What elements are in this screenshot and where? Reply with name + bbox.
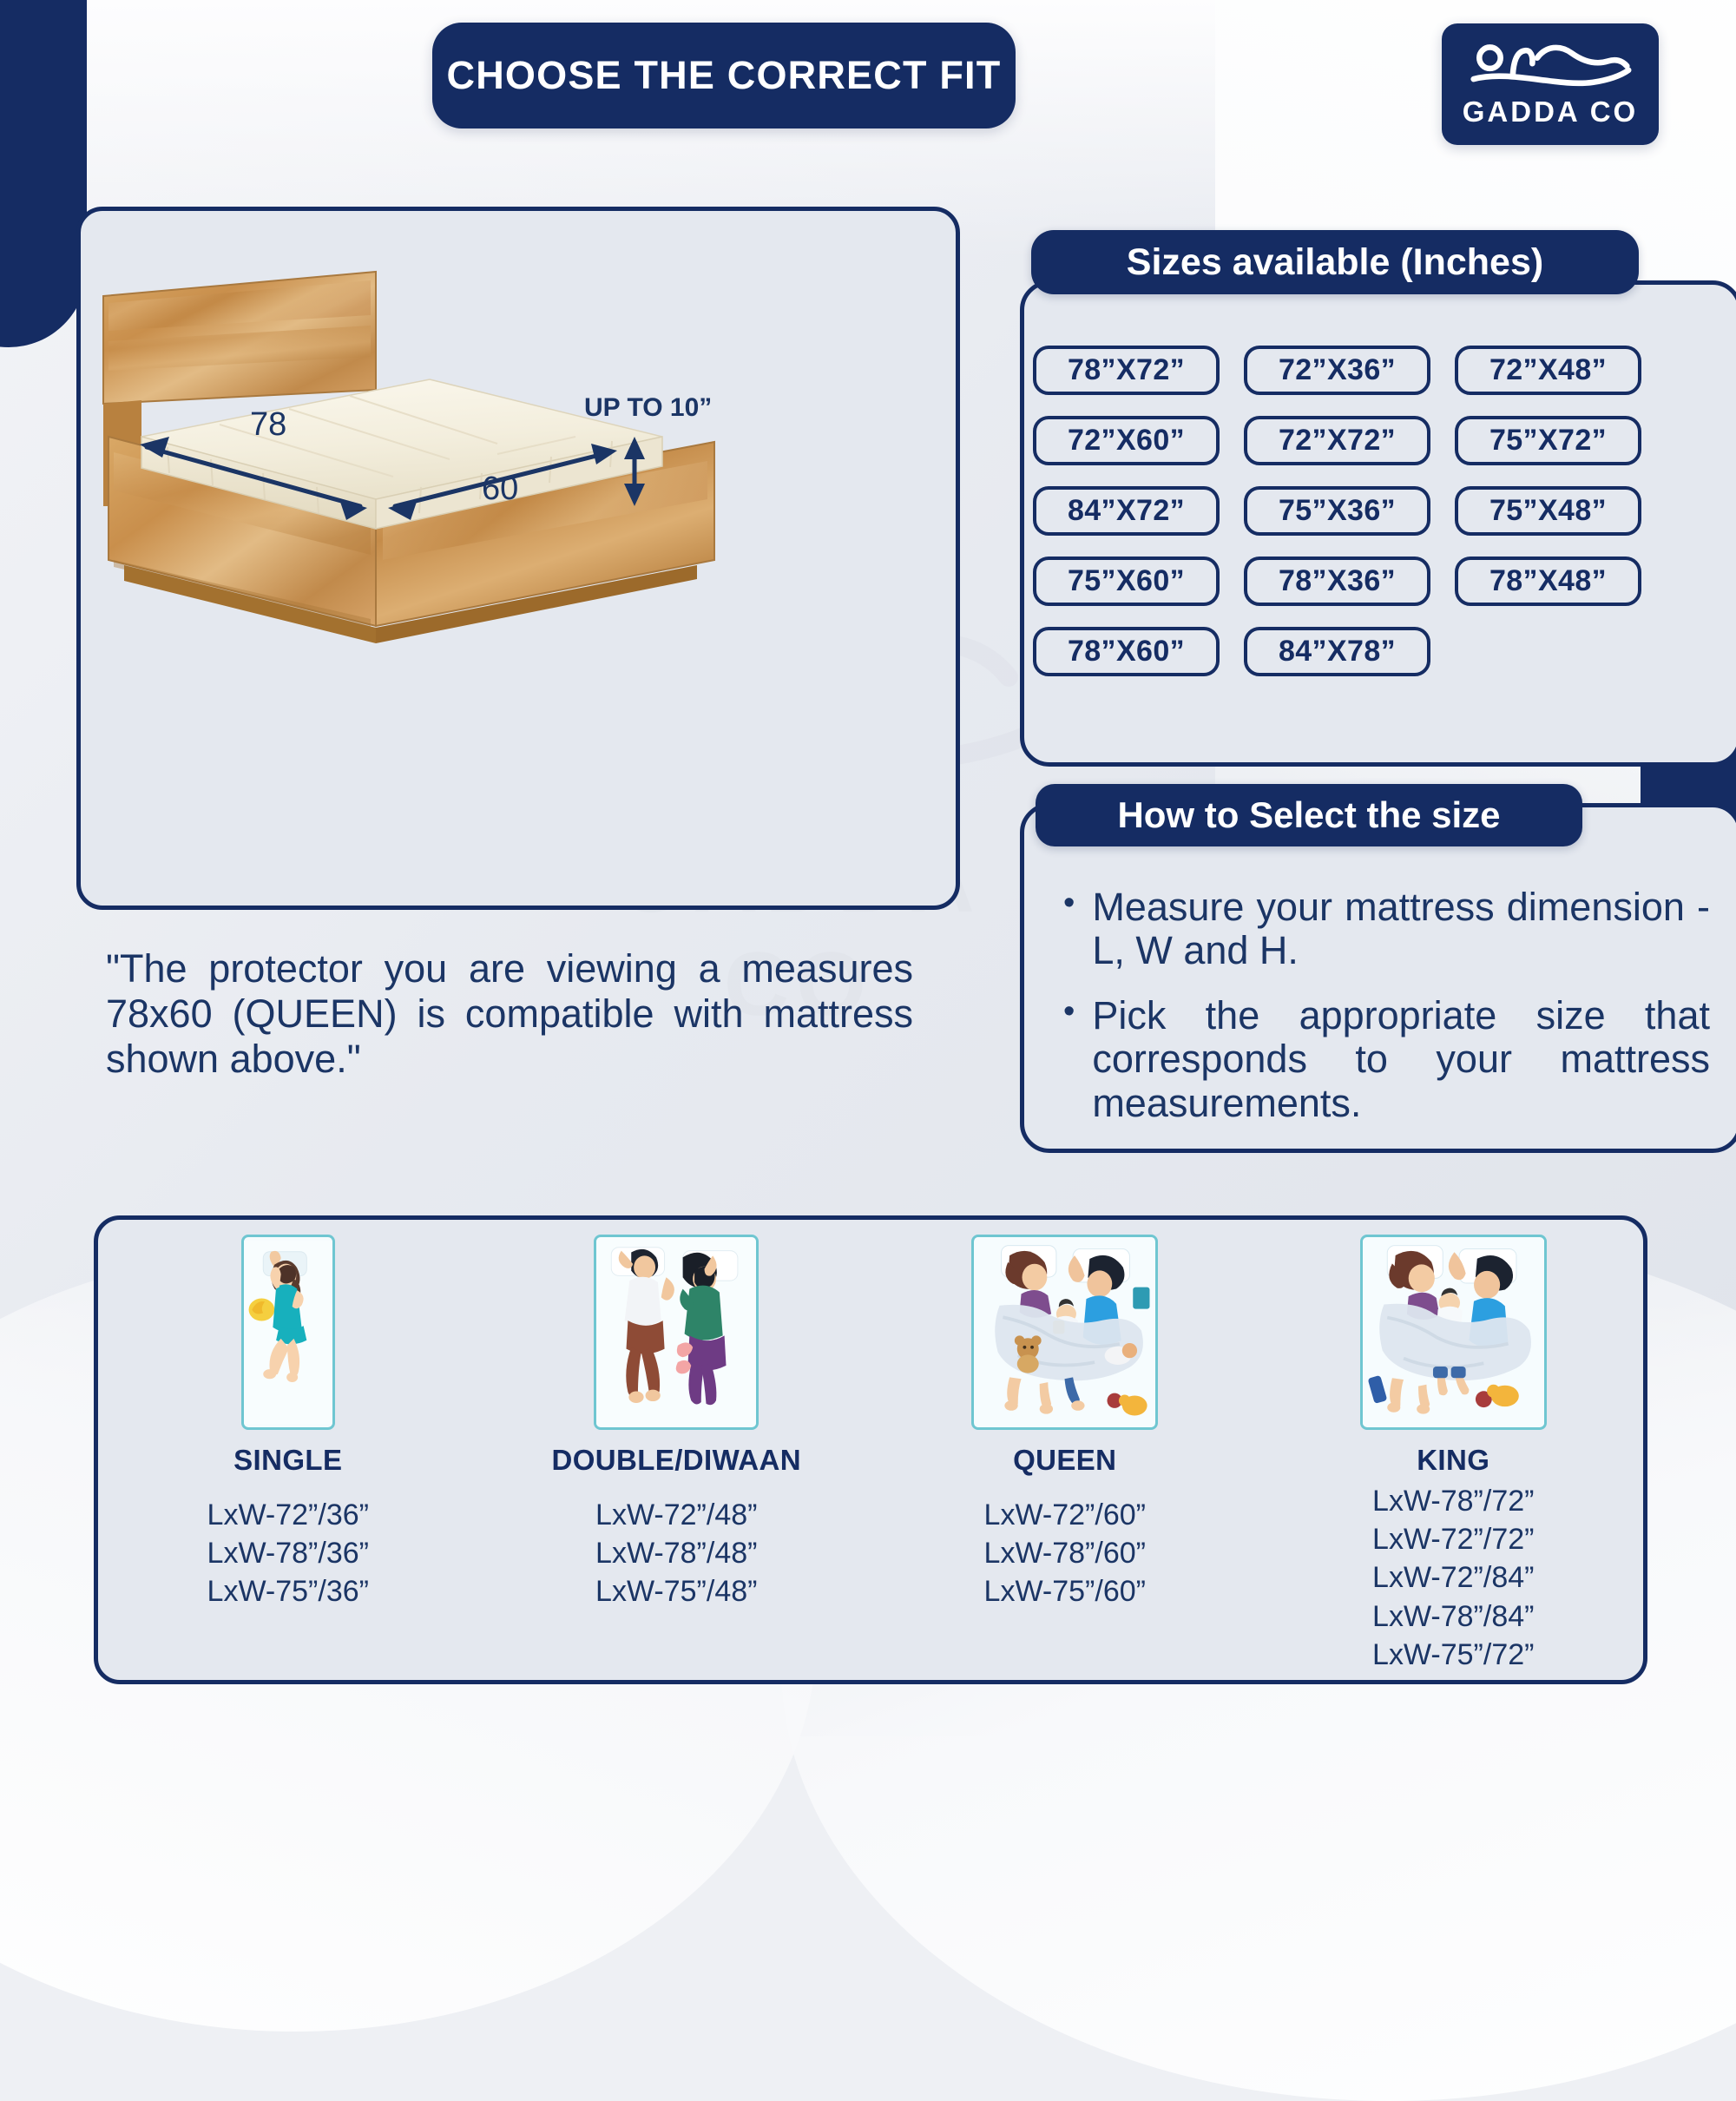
bullet-icon: •: [1063, 994, 1075, 1125]
size-pill[interactable]: 78”X48”: [1455, 557, 1641, 606]
size-pill[interactable]: 75”X60”: [1033, 557, 1220, 606]
sizes-available-title-text: Sizes available (Inches): [1127, 241, 1543, 284]
bed-size-category-label: DOUBLE/DIWAAN: [551, 1444, 801, 1477]
how-to-select-list: •Measure your mattress dimension - L, W …: [1063, 886, 1710, 1146]
size-pill[interactable]: 72”X48”: [1455, 346, 1641, 395]
bed-size-categories-grid: SINGLELxW-72”/36”LxW-78”/36”LxW-75”/36”: [94, 1215, 1647, 1684]
sizes-available-title: Sizes available (Inches): [1031, 230, 1639, 294]
bed-size-category-double-diwaan[interactable]: DOUBLE/DIWAANLxW-72”/48”LxW-78”/48”LxW-7…: [483, 1215, 871, 1684]
dimension-line: LxW-78”/60”: [984, 1534, 1146, 1572]
size-pill[interactable]: 84”X78”: [1244, 627, 1430, 676]
size-pill[interactable]: 72”X36”: [1244, 346, 1430, 395]
size-pill-grid: 78”X72”72”X36”72”X48”72”X60”72”X72”75”X7…: [1033, 346, 1606, 676]
bullet-icon: •: [1063, 886, 1075, 973]
size-pill[interactable]: 75”X48”: [1455, 486, 1641, 536]
couple-with-baby-and-pets-icon: [971, 1235, 1158, 1430]
bed-size-category-label: SINGLE: [233, 1444, 342, 1477]
bed-size-category-queen[interactable]: QUEENLxW-72”/60”LxW-78”/60”LxW-75”/60”: [871, 1215, 1259, 1684]
reclining-person-mattress-logo-icon: [1468, 40, 1633, 94]
bed-size-category-label: KING: [1417, 1444, 1489, 1477]
how-to-select-title: How to Select the size: [1036, 784, 1582, 846]
size-pill[interactable]: 75”X72”: [1455, 416, 1641, 465]
how-to-select-title-text: How to Select the size: [1117, 794, 1500, 836]
dimension-line: LxW-78”/48”: [595, 1534, 757, 1572]
dimension-line: LxW-72”/36”: [207, 1496, 369, 1534]
size-pill[interactable]: 78”X36”: [1244, 557, 1430, 606]
mattress-illustration-card: 78 60 UP TO 10”: [76, 207, 960, 910]
dimension-line: LxW-78”/36”: [207, 1534, 369, 1572]
dimension-line: LxW-75”/72”: [1372, 1636, 1534, 1674]
bed-with-mattress-illustration: 78 60 UP TO 10”: [89, 220, 940, 654]
bed-size-category-label: QUEEN: [1013, 1444, 1116, 1477]
brand-logo-text: GADDA CO: [1463, 95, 1638, 128]
compatibility-quote: "The protector you are viewing a measure…: [106, 946, 913, 1083]
how-to-select-item-text: Measure your mattress dimension - L, W a…: [1092, 886, 1710, 973]
size-pill[interactable]: 72”X60”: [1033, 416, 1220, 465]
dimension-line: LxW-72”/84”: [1372, 1558, 1534, 1597]
dimension-line: LxW-72”/72”: [1372, 1520, 1534, 1558]
bed-size-category-dimensions: LxW-78”/72”LxW-72”/72”LxW-72”/84”LxW-78”…: [1372, 1482, 1534, 1674]
dimension-line: LxW-78”/72”: [1372, 1482, 1534, 1520]
dimension-line: LxW-72”/48”: [595, 1496, 757, 1534]
bed-size-category-dimensions: LxW-72”/48”LxW-78”/48”LxW-75”/48”: [595, 1496, 757, 1611]
couple-sleepers-icon: [594, 1235, 759, 1430]
family-with-baby-and-child-icon: [1360, 1235, 1547, 1430]
size-pill[interactable]: 78”X60”: [1033, 627, 1220, 676]
single-sleeper-woman-icon: [241, 1235, 335, 1430]
dimension-line: LxW-75”/36”: [207, 1572, 369, 1610]
size-pill[interactable]: 78”X72”: [1033, 346, 1220, 395]
bed-size-category-king[interactable]: KINGLxW-78”/72”LxW-72”/72”LxW-72”/84”LxW…: [1259, 1215, 1648, 1684]
size-pill[interactable]: 72”X72”: [1244, 416, 1430, 465]
dimension-line: LxW-78”/84”: [1372, 1597, 1534, 1636]
page-title-text: CHOOSE THE CORRECT FIT: [447, 53, 1002, 98]
dimension-line: LxW-75”/60”: [984, 1572, 1146, 1610]
size-pill[interactable]: 75”X36”: [1244, 486, 1430, 536]
bed-width-label: 60: [482, 471, 518, 507]
bed-size-category-single[interactable]: SINGLELxW-72”/36”LxW-78”/36”LxW-75”/36”: [94, 1215, 483, 1684]
bed-length-label: 78: [250, 406, 286, 443]
dimension-line: LxW-75”/48”: [595, 1572, 757, 1610]
dimension-line: LxW-72”/60”: [984, 1496, 1146, 1534]
bed-size-category-dimensions: LxW-72”/60”LxW-78”/60”LxW-75”/60”: [984, 1496, 1146, 1611]
bed-size-category-dimensions: LxW-72”/36”LxW-78”/36”LxW-75”/36”: [207, 1496, 369, 1611]
how-to-select-item: •Measure your mattress dimension - L, W …: [1063, 886, 1710, 973]
how-to-select-item-text: Pick the appropriate size that correspon…: [1092, 994, 1710, 1125]
size-pill[interactable]: 84”X72”: [1033, 486, 1220, 536]
bed-height-label: UP TO 10”: [584, 393, 712, 422]
how-to-select-item: •Pick the appropriate size that correspo…: [1063, 994, 1710, 1125]
brand-logo: GADDA CO: [1442, 23, 1659, 145]
page-title: CHOOSE THE CORRECT FIT: [432, 23, 1016, 128]
